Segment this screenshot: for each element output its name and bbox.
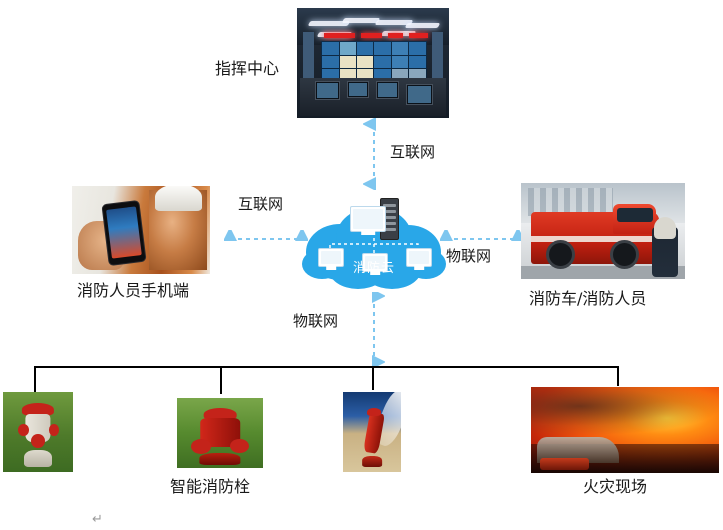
hydrant-outlet (31, 434, 45, 448)
hydrant-base (199, 453, 240, 466)
fire-engine (540, 458, 589, 470)
label-link-top: 互联网 (390, 144, 435, 161)
label-link-bottom: 物联网 (293, 313, 338, 330)
label-smart-hydrant: 智能消防栓 (170, 478, 250, 496)
hydrant-outlet (49, 424, 60, 436)
link-top-dashed (363, 118, 385, 190)
led-banner (324, 33, 354, 38)
photo-command-center (297, 8, 449, 118)
bracket-stem (617, 366, 619, 386)
photo-fire-scene (531, 387, 719, 473)
led-banner (388, 33, 403, 38)
bracket-stem (372, 366, 374, 390)
hydrant-outlet (191, 439, 212, 454)
truck-wheel (610, 240, 639, 269)
photo-hydrant-3 (343, 392, 401, 472)
truck-cab (613, 204, 656, 234)
photo-hydrant-1 (3, 392, 73, 472)
cloud-label: 消防云 (300, 257, 448, 276)
wall-panel-left (303, 32, 314, 80)
screen (353, 209, 383, 229)
label-fire-truck: 消防车/消防人员 (529, 290, 646, 308)
fire-truck-body (531, 212, 659, 264)
label-firefighter-mobile: 消防人员手机端 (77, 282, 189, 300)
led-banner (409, 33, 427, 38)
photo-hydrant-2 (177, 398, 263, 468)
desk-monitor (376, 81, 399, 100)
firefighter (652, 227, 678, 277)
hydrant-scene (3, 392, 73, 472)
ceiling-light (341, 18, 380, 23)
fire-truck-scene (521, 183, 685, 279)
link-right-dashed (440, 230, 524, 248)
truck-stripe (531, 236, 659, 242)
link-bottom-dashed (363, 292, 385, 368)
mobile-scene (72, 186, 210, 274)
diagram-canvas: 指挥中心 互联网 消防人员手机端 互联网 (0, 0, 723, 530)
desk-monitor (347, 81, 369, 98)
paragraph-mark: ↵ (92, 512, 103, 527)
video-wall (321, 41, 426, 83)
label-command-center: 指挥中心 (215, 60, 279, 78)
photo-fire-truck (521, 183, 685, 279)
hydrant-scene (343, 392, 401, 472)
helmet (155, 186, 202, 211)
ceiling-light (405, 23, 441, 28)
fire-scene (531, 387, 719, 473)
hydrant-scene (177, 398, 263, 468)
stand (361, 231, 375, 235)
bracket-stem (34, 366, 36, 394)
command-center-scene (297, 8, 449, 118)
wall-panel-right (432, 32, 443, 80)
bracket-stem (220, 366, 222, 394)
smoke (531, 387, 719, 435)
desk-monitor (315, 81, 340, 101)
hydrant-base (24, 450, 52, 468)
cloud-monitor-main (350, 206, 386, 232)
link-left-dashed (224, 230, 308, 248)
photo-firefighter-mobile (72, 186, 210, 274)
bracket-bar (34, 366, 618, 368)
smartphone (101, 200, 146, 266)
label-link-right: 物联网 (446, 248, 491, 265)
truck-wheel (546, 240, 575, 269)
hydrant-outlet (18, 424, 29, 436)
hydrant-outlet (230, 439, 249, 453)
label-fire-scene: 火灾现场 (583, 478, 647, 496)
label-link-left: 互联网 (238, 196, 283, 213)
led-banner (361, 33, 382, 38)
phone-screen (106, 206, 142, 258)
hydrant-base (362, 456, 382, 467)
desk-monitor (406, 84, 432, 105)
hydrant-cap (367, 408, 381, 416)
fire-cloud: 消防云 (300, 196, 448, 292)
